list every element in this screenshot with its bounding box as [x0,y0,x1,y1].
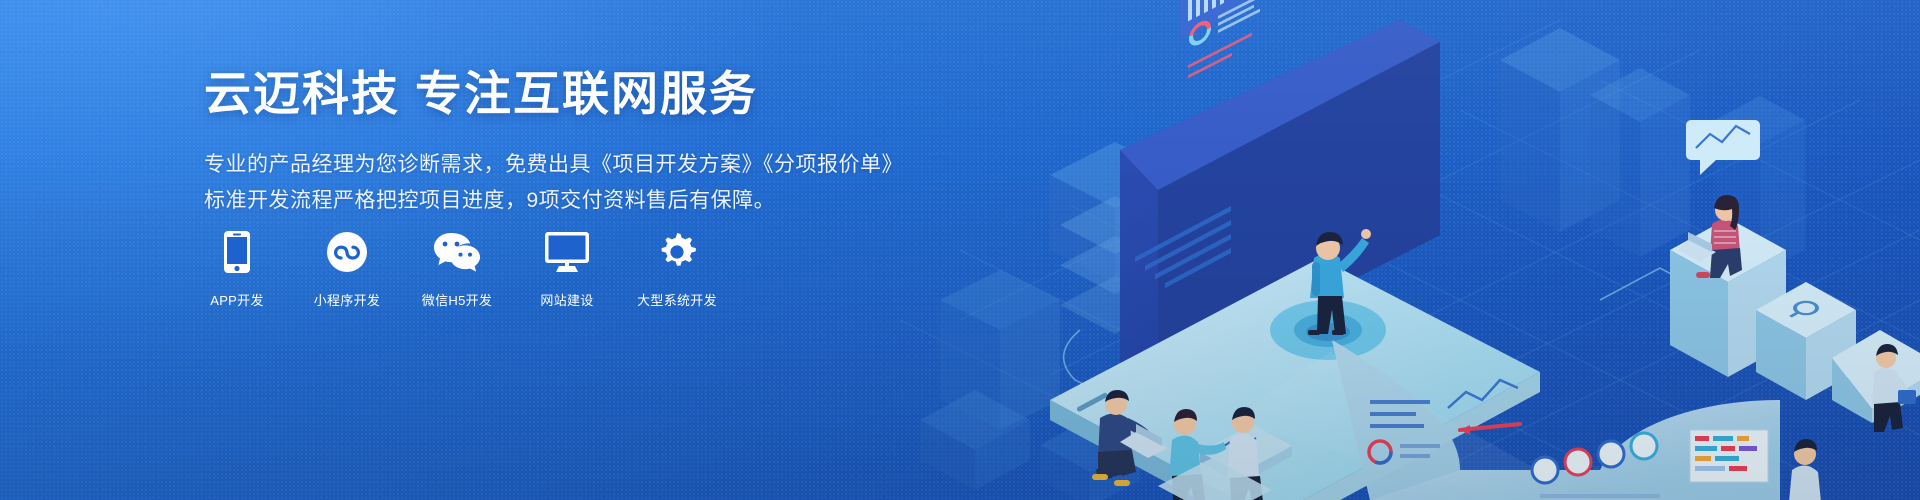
mobile-phone-icon [224,230,250,274]
mini-program-icon [327,230,367,274]
wechat-icon [433,230,481,274]
service-label: 微信H5开发 [422,290,492,309]
service-item-website[interactable]: 网站建设 [530,230,604,309]
promo-banner: 云迈科技 专注互联网服务 专业的产品经理为您诊断需求，免费出具《项目开发方案》《… [0,0,1920,500]
service-item-wechat-h5[interactable]: 微信H5开发 [420,230,494,309]
subtitle-line-2: 标准开发流程严格把控项目进度，9项交付资料售后有保障。 [204,183,924,218]
gear-icon [656,230,698,274]
service-label: 网站建设 [540,290,593,309]
service-list: APP开发 小程序开发 微信 [200,230,714,309]
service-item-mini-program[interactable]: 小程序开发 [310,230,384,309]
service-item-app[interactable]: APP开发 [200,230,274,309]
service-label: 小程序开发 [314,290,381,309]
service-label: 大型系统开发 [637,290,717,309]
page-title: 云迈科技 专注互联网服务 [204,66,924,121]
service-item-large-system[interactable]: 大型系统开发 [640,230,714,309]
subtitle-line-1: 专业的产品经理为您诊断需求，免费出具《项目开发方案》《分项报价单》 [204,147,924,182]
monitor-icon [545,230,589,274]
service-label: APP开发 [210,290,264,309]
banner-copy: 云迈科技 专注互联网服务 专业的产品经理为您诊断需求，免费出具《项目开发方案》《… [204,66,924,218]
isometric-illustration [900,0,1920,500]
banner-subtitle: 专业的产品经理为您诊断需求，免费出具《项目开发方案》《分项报价单》 标准开发流程… [204,147,924,218]
